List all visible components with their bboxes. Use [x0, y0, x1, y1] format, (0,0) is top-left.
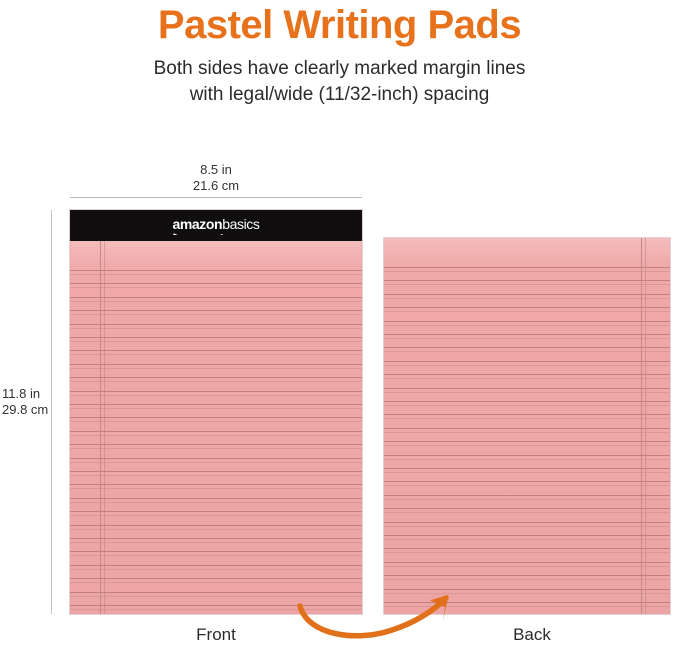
rule-line	[70, 404, 362, 405]
rule-line	[70, 377, 362, 378]
rule-line	[384, 307, 670, 308]
rule-line-soft	[70, 421, 362, 422]
rule-line	[70, 511, 362, 512]
page-subtitle: Both sides have clearly marked margin li…	[0, 56, 679, 108]
rule-line	[70, 417, 362, 418]
height-dimension-label: 11.8 in 29.8 cm	[0, 386, 64, 418]
margin-line-front-primary	[100, 241, 101, 614]
rule-line	[384, 321, 670, 322]
rule-line-soft	[384, 311, 670, 312]
margin-line-front-secondary	[104, 241, 105, 614]
page-title: Pastel Writing Pads	[0, 0, 679, 48]
rule-line	[384, 522, 670, 523]
rule-line	[384, 575, 670, 576]
rule-line	[384, 455, 670, 456]
rule-line	[70, 565, 362, 566]
rule-line-soft	[384, 271, 670, 272]
rule-line-soft	[70, 381, 362, 382]
rule-line-soft	[384, 338, 670, 339]
rule-line	[384, 374, 670, 375]
pad-paper-back	[384, 238, 670, 614]
rule-line-soft	[70, 368, 362, 369]
writing-pad-front: amazonbasics	[70, 210, 362, 614]
rule-line	[384, 388, 670, 389]
rule-line-soft	[384, 405, 670, 406]
height-inches: 11.8 in	[2, 386, 64, 402]
rule-line-soft	[384, 325, 670, 326]
rule-line	[70, 498, 362, 499]
rule-line	[70, 270, 362, 271]
rule-line-soft	[384, 552, 670, 553]
rule-line	[384, 468, 670, 469]
rule-line	[70, 525, 362, 526]
width-dimension-label: 8.5 in 21.6 cm	[70, 162, 362, 194]
rule-line	[70, 538, 362, 539]
rule-line-soft	[384, 459, 670, 460]
rule-line	[70, 391, 362, 392]
ruled-lines-front	[70, 241, 362, 614]
rule-line	[384, 280, 670, 281]
rule-line	[384, 562, 670, 563]
rule-line-soft	[70, 314, 362, 315]
rule-line	[70, 458, 362, 459]
rule-line	[384, 361, 670, 362]
rule-line-soft	[70, 395, 362, 396]
width-inches: 8.5 in	[70, 162, 362, 178]
width-dimension-rule	[70, 197, 362, 198]
rule-line-soft	[384, 526, 670, 527]
rule-line-soft	[384, 512, 670, 513]
rule-line-soft	[384, 284, 670, 285]
rule-line	[70, 471, 362, 472]
rule-line	[70, 364, 362, 365]
rule-line-soft	[384, 392, 670, 393]
rule-line	[384, 401, 670, 402]
rule-line-soft	[384, 298, 670, 299]
rule-line-soft	[384, 351, 670, 352]
rule-line-soft	[70, 462, 362, 463]
rule-line-soft	[70, 542, 362, 543]
margin-line-back-primary	[641, 238, 642, 614]
rule-line	[70, 324, 362, 325]
height-dimension-rule	[51, 210, 52, 614]
rule-line-soft	[384, 378, 670, 379]
rule-line	[384, 334, 670, 335]
rule-line-soft	[70, 287, 362, 288]
rule-line	[384, 428, 670, 429]
rule-line	[70, 283, 362, 284]
ruled-lines-back	[384, 238, 670, 614]
rule-line-soft	[384, 499, 670, 500]
rule-line-soft	[70, 488, 362, 489]
subtitle-line-2: with legal/wide (11/32-inch) spacing	[0, 82, 679, 108]
rule-line	[70, 310, 362, 311]
rule-line-soft	[70, 354, 362, 355]
rule-line	[70, 444, 362, 445]
rule-line-soft	[70, 301, 362, 302]
pad-paper-front	[70, 241, 362, 614]
rule-line	[384, 294, 670, 295]
width-centimeters: 21.6 cm	[70, 178, 362, 194]
rule-line-soft	[70, 529, 362, 530]
caption-back: Back	[462, 625, 602, 645]
writing-pad-back	[384, 238, 670, 614]
rule-line-soft	[384, 365, 670, 366]
rule-line-soft	[70, 448, 362, 449]
rule-line-soft	[70, 408, 362, 409]
rule-line-soft	[70, 475, 362, 476]
pad-header-band: amazonbasics	[70, 210, 362, 241]
curved-flip-arrow-icon	[280, 580, 470, 642]
rule-line	[70, 484, 362, 485]
rule-line-soft	[70, 515, 362, 516]
caption-front: Front	[146, 625, 286, 645]
rule-line	[70, 431, 362, 432]
rule-line	[70, 297, 362, 298]
rule-line-soft	[70, 569, 362, 570]
rule-line-soft	[70, 341, 362, 342]
rule-line-soft	[384, 472, 670, 473]
brand-basics-text: basics	[222, 216, 259, 232]
rule-line	[70, 551, 362, 552]
amazon-smile-arrow-icon	[173, 228, 225, 235]
rule-line	[70, 337, 362, 338]
rule-line	[384, 347, 670, 348]
rule-line	[384, 441, 670, 442]
rule-line-soft	[70, 435, 362, 436]
rule-line-soft	[70, 502, 362, 503]
margin-line-back-secondary	[645, 238, 646, 614]
rule-line-soft	[70, 274, 362, 275]
rule-line	[384, 495, 670, 496]
rule-line-soft	[384, 485, 670, 486]
rule-line	[384, 267, 670, 268]
rule-line	[384, 548, 670, 549]
rule-line-soft	[384, 432, 670, 433]
rule-line	[384, 414, 670, 415]
height-centimeters: 29.8 cm	[2, 402, 64, 418]
rule-line-soft	[384, 445, 670, 446]
rule-line	[384, 481, 670, 482]
rule-line-soft	[70, 555, 362, 556]
rule-line-soft	[70, 328, 362, 329]
rule-line-soft	[384, 539, 670, 540]
rule-line-soft	[384, 418, 670, 419]
rule-line	[384, 508, 670, 509]
rule-line-soft	[384, 566, 670, 567]
subtitle-line-1: Both sides have clearly marked margin li…	[0, 56, 679, 82]
rule-line	[384, 535, 670, 536]
amazonbasics-logo: amazonbasics	[172, 217, 259, 234]
rule-line	[70, 350, 362, 351]
